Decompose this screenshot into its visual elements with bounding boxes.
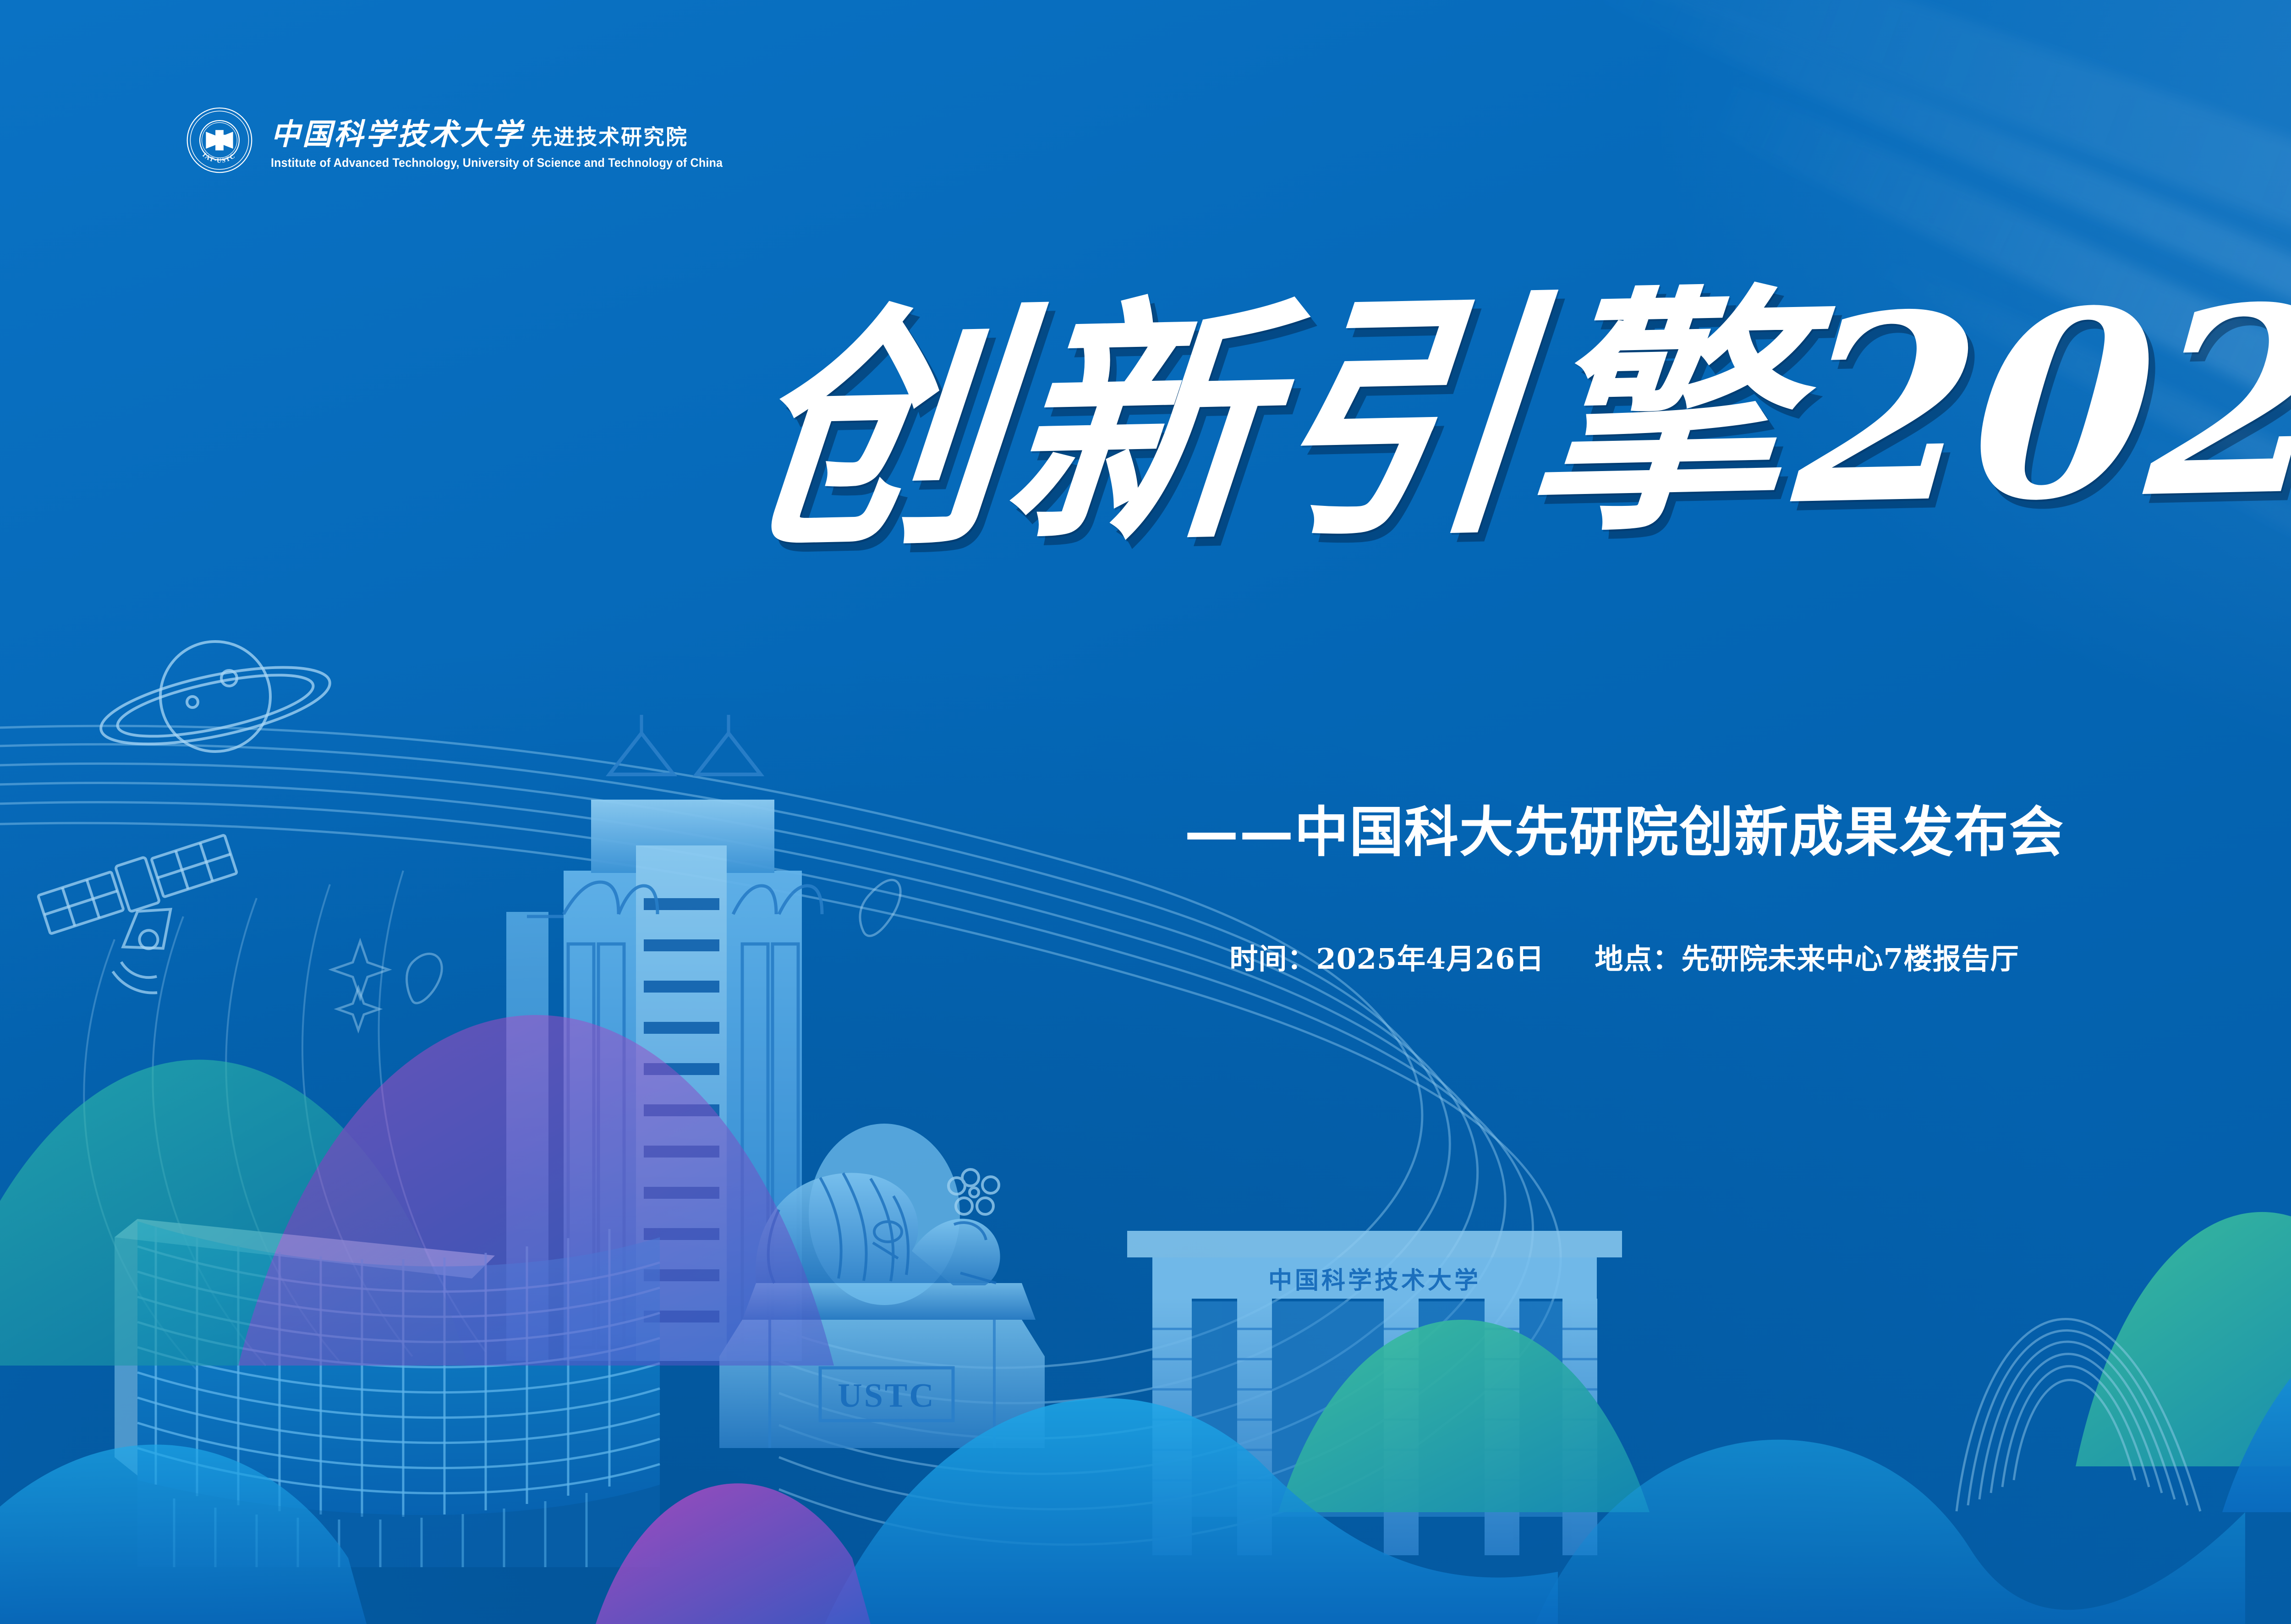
gate-sign-label: 中国科学技术大学	[1268, 1267, 1481, 1295]
place-value: 先研院未来中心7楼报告厅	[1681, 942, 2019, 976]
logo-institute-name: 先进技术研究院	[531, 121, 688, 151]
subtitle: ——中国科大先研院创新成果发布会	[0, 788, 2291, 867]
poster-canvas: USTC	[0, 0, 2291, 1624]
statue-plinth-label: USTC	[838, 1377, 935, 1415]
saturn-planet-icon	[95, 642, 336, 760]
svg-text:IAT·USTC: IAT·USTC	[201, 151, 237, 165]
logo-university-name: 中国科学技术大学	[271, 111, 524, 153]
event-info-line: 时间：2025年4月26日地点：先研院未来中心7楼报告厅	[0, 936, 2291, 977]
logo-english-name: Institute of Advanced Technology, Univer…	[271, 156, 723, 170]
place-label: 地点：	[1595, 942, 1681, 976]
time-value: 2025年4月26日	[1316, 942, 1544, 976]
logo-text-column: 中国科学技术大学 先进技术研究院 Institute of Advanced T…	[271, 111, 756, 170]
svg-text:IAT: IAT	[208, 132, 232, 147]
time-label: 时间：	[1229, 942, 1316, 976]
logo-chinese-line: 中国科学技术大学 先进技术研究院	[271, 111, 756, 153]
logo-block: IAT IAT·USTC 中国科学技术大学 先进技术研究院 Institute …	[186, 106, 756, 174]
iat-ustc-emblem-icon: IAT IAT·USTC	[186, 106, 253, 174]
